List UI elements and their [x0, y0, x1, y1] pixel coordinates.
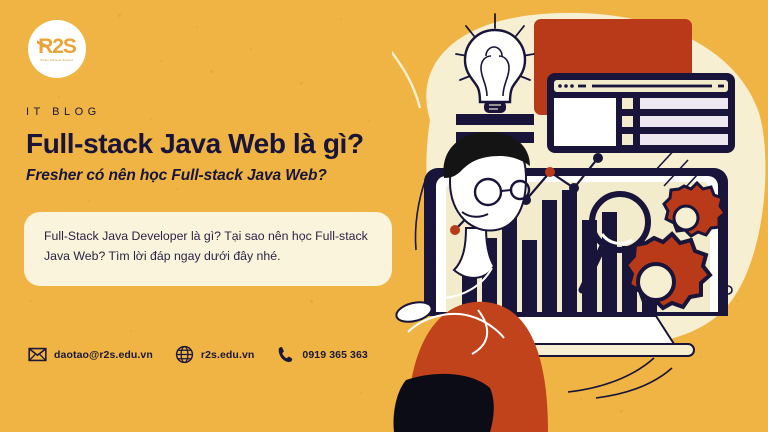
developer-analytics-illustration — [392, 0, 768, 432]
description-card: Full-Stack Java Developer là gì? Tại sao… — [24, 212, 392, 286]
page-subtitle: Fresher có nên học Full-stack Java Web? — [26, 167, 327, 185]
phone-icon — [276, 345, 295, 364]
logo-slash-icon — [37, 37, 48, 52]
contact-website[interactable]: r2s.edu.vn — [175, 345, 255, 364]
envelope-icon — [28, 345, 47, 364]
eyebrow-label: IT BLOG — [26, 106, 101, 118]
r2s-logo[interactable]: R2S Rikkei Software Solution — [28, 20, 86, 78]
r2s-logo-icon: R2S — [38, 36, 76, 57]
contact-email[interactable]: daotao@r2s.edu.vn — [28, 345, 153, 364]
text-bar — [456, 114, 534, 125]
blog-banner: R2S Rikkei Software Solution IT BLOG Ful… — [0, 0, 768, 432]
globe-icon — [175, 345, 194, 364]
contact-website-label: r2s.edu.vn — [201, 349, 255, 361]
arc-decor — [392, 40, 420, 108]
contact-phone-label: 0919 365 363 — [302, 349, 367, 361]
contact-email-label: daotao@r2s.edu.vn — [54, 349, 153, 361]
browser-window-mockup — [547, 73, 735, 153]
contact-phone[interactable]: 0919 365 363 — [276, 345, 367, 364]
description-text: Full-Stack Java Developer là gì? Tại sao… — [44, 227, 372, 266]
page-title: Full-stack Java Web là gì? — [26, 128, 364, 160]
contact-footer: daotao@r2s.edu.vn r2s.edu.vn 0919 365 36… — [28, 345, 368, 364]
logo-tagline: Rikkei Software Solution — [41, 59, 74, 62]
